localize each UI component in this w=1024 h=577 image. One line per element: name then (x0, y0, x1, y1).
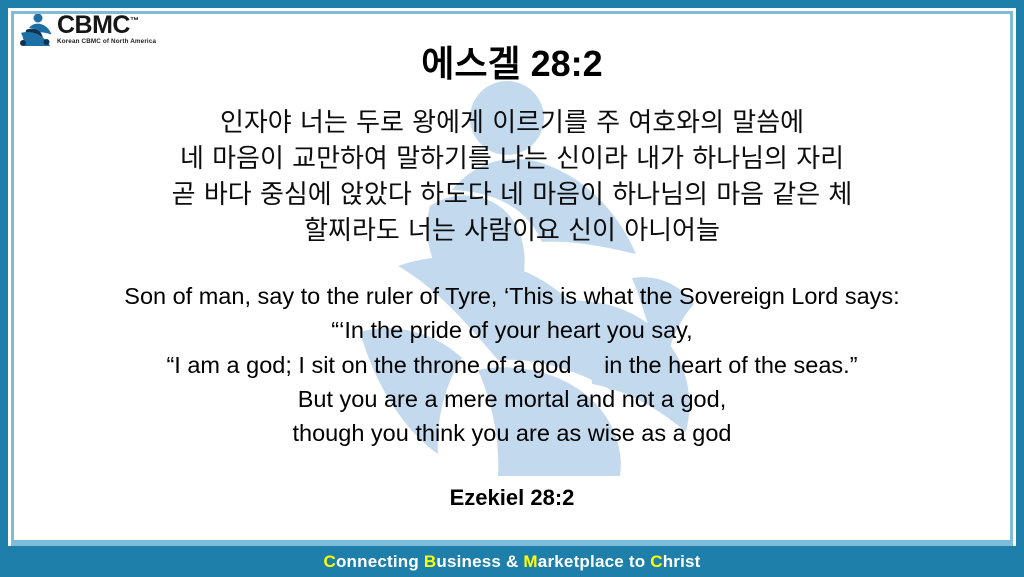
logo-wordmark: CBMC™ (57, 14, 156, 37)
footer-tagline: Connecting Business & Marketplace to Chr… (323, 552, 700, 572)
verse-attribution: Ezekiel 28:2 (24, 485, 1000, 511)
slide-content: 에스겔 28:2 인자야 너는 두로 왕에게 이르기를 주 여호와의 말씀에 네… (24, 22, 1000, 511)
slide-canvas: CBMC™ Korean CBMC of North America 에스겔 2… (0, 0, 1024, 577)
cbmc-figure-swoosh-icon (18, 11, 54, 47)
verse-english: Son of man, say to the ruler of Tyre, ‘T… (24, 279, 1000, 450)
logo-tagline: Korean CBMC of North America (57, 38, 156, 45)
trademark-symbol: ™ (130, 15, 139, 25)
verse-korean: 인자야 너는 두로 왕에게 이르기를 주 여호와의 말씀에 네 마음이 교만하여… (24, 105, 1000, 250)
page-title: 에스겔 28:2 (24, 44, 1000, 84)
footer-bar: Connecting Business & Marketplace to Chr… (8, 546, 1016, 577)
cbmc-logo: CBMC™ Korean CBMC of North America (18, 9, 158, 49)
